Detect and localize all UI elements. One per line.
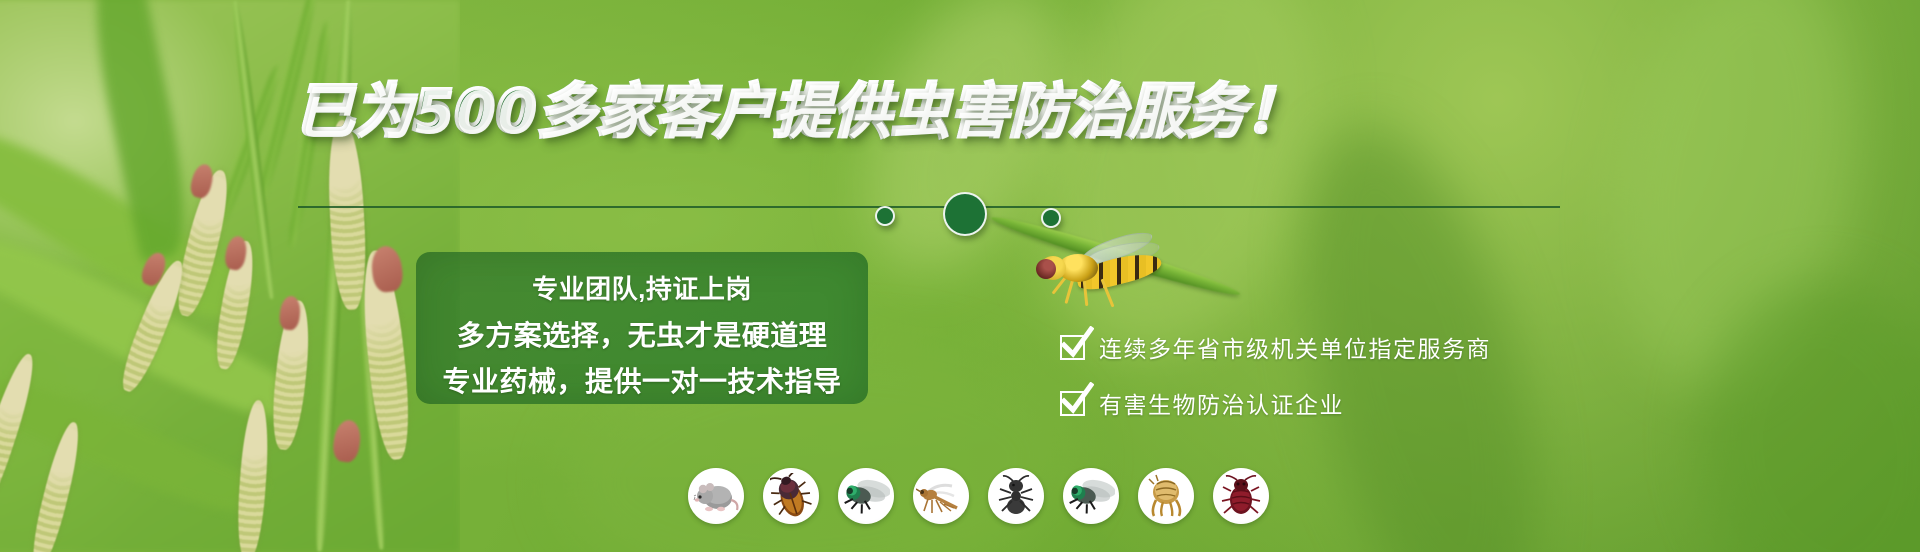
feature-list: 连续多年省市级机关单位指定服务商 有害生物防治认证企业 [1060,330,1580,442]
checkbox-checked-icon [1060,391,1085,416]
promo-banner: 已为500多家客户提供虫害防治服务！ 专业团队,持证上岗 多方案选择，无虫才是硬… [0,0,1920,552]
bedbug-icon[interactable]: 臭虫 [1213,468,1269,524]
selling-points-panel: 专业团队,持证上岗 多方案选择，无虫才是硬道理 专业药械，提供一对一技术指导 [416,252,868,404]
checkbox-checked-icon [1060,335,1085,360]
hoverfly-icon [1036,240,1176,302]
flea-icon[interactable]: 蚤 [1138,468,1194,524]
panel-line-3: 专业药械，提供一对一技术指导 [442,360,841,400]
page-title: 已为500多家客户提供虫害防治服务！ [295,72,1585,140]
housefly-icon[interactable]: 苍蝇 [1063,468,1119,524]
small-dot [1041,208,1061,228]
decorative-dots [875,192,1115,236]
cockroach-icon[interactable]: 蟑螂 [763,468,819,524]
list-item: 有害生物防治认证企业 [1060,386,1580,420]
pest-icon-row: 鼠 蟑螂 [688,468,1269,524]
headline-text: 已为500多家客户提供虫害防治服务！ [295,64,1304,148]
mouse-icon[interactable]: 鼠 [688,468,744,524]
small-dot [875,206,895,226]
fly-icon[interactable]: 蝇 [838,468,894,524]
list-item: 连续多年省市级机关单位指定服务商 [1060,330,1580,364]
mosquito-icon[interactable]: 蚊 [913,468,969,524]
ant-icon[interactable]: 蚁 [988,468,1044,524]
large-dot [943,192,987,236]
feature-text: 有害生物防治认证企业 [1099,386,1344,420]
panel-line-2: 多方案选择，无虫才是硬道理 [457,314,828,354]
feature-text: 连续多年省市级机关单位指定服务商 [1099,330,1491,364]
panel-line-1: 专业团队,持证上岗 [532,269,752,306]
